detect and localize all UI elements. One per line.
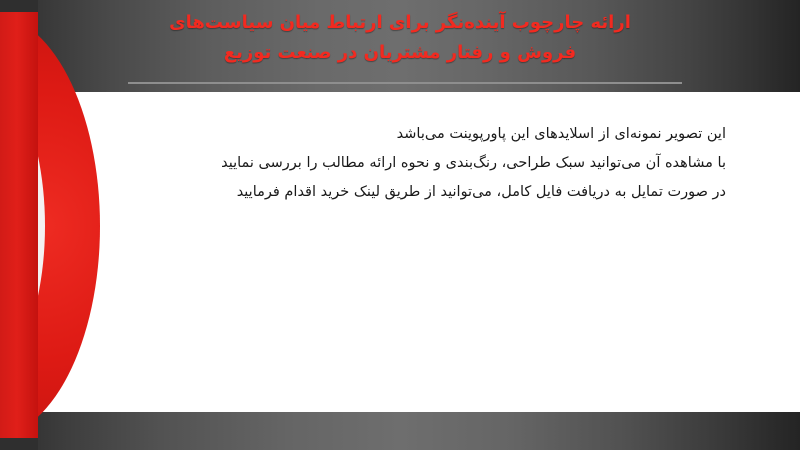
title-line-2: فروش و رفتار مشتریان در صنعت توزیع <box>0 38 800 68</box>
title-line-1: ارائه چارچوب آینده‌نگر برای ارتباط میان … <box>0 8 800 38</box>
title-underline-rule <box>128 82 682 84</box>
body-line-1: این تصویر نمونه‌ای از اسلایدهای این پاور… <box>106 120 726 149</box>
slide-title: ارائه چارچوب آینده‌نگر برای ارتباط میان … <box>0 8 800 68</box>
body-line-3: در صورت تمایل به دریافت فایل کامل، می‌تو… <box>106 178 726 207</box>
slide: ارائه چارچوب آینده‌نگر برای ارتباط میان … <box>0 0 800 450</box>
body-line-2: با مشاهده آن می‌توانید سبک طراحی، رنگ‌بن… <box>106 149 726 178</box>
slide-body: این تصویر نمونه‌ای از اسلایدهای این پاور… <box>106 120 726 207</box>
bottom-decoration-band <box>0 412 800 450</box>
left-strip-cap-bottom <box>0 438 38 450</box>
